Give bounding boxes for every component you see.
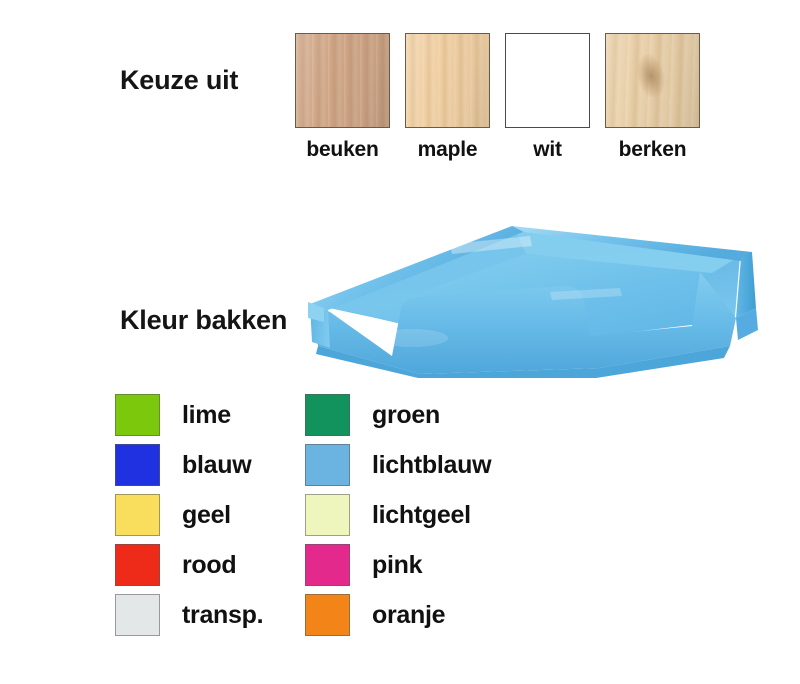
- wood-swatch-berken[interactable]: [605, 33, 700, 128]
- color-swatch-lichtblauw[interactable]: [305, 444, 350, 486]
- color-swatch-groen[interactable]: [305, 394, 350, 436]
- storage-tray-photo: [300, 196, 760, 378]
- color-option-groen[interactable]: groen: [305, 393, 440, 437]
- wood-section-title: Keuze uit: [120, 65, 238, 96]
- color-swatch-pink[interactable]: [305, 544, 350, 586]
- product-options-panel: Keuze uit beuken maple wit: [0, 0, 800, 684]
- wood-option-wit[interactable]: wit: [505, 33, 590, 162]
- wood-option-label: berken: [605, 138, 700, 162]
- wood-option-label: maple: [405, 138, 490, 162]
- color-option-lime[interactable]: lime: [115, 393, 231, 437]
- color-option-label: rood: [182, 553, 236, 578]
- color-option-label: transp.: [182, 603, 263, 628]
- wood-swatch-wit[interactable]: [505, 33, 590, 128]
- color-swatch-blauw[interactable]: [115, 444, 160, 486]
- color-option-geel[interactable]: geel: [115, 493, 231, 537]
- wood-sheen-overlay: [296, 34, 389, 127]
- color-swatch-rood[interactable]: [115, 544, 160, 586]
- wood-swatch-maple[interactable]: [405, 33, 490, 128]
- color-option-label: oranje: [372, 603, 445, 628]
- wood-option-beuken[interactable]: beuken: [295, 33, 390, 162]
- bin-section-title: Kleur bakken: [120, 305, 287, 336]
- tray-highlight-grip: [376, 329, 448, 347]
- color-option-pink[interactable]: pink: [305, 543, 422, 587]
- wood-sheen-overlay: [606, 34, 699, 127]
- color-option-label: lime: [182, 403, 231, 428]
- wood-option-maple[interactable]: maple: [405, 33, 490, 162]
- color-swatch-geel[interactable]: [115, 494, 160, 536]
- wood-option-label: beuken: [295, 138, 390, 162]
- color-option-lichtgeel[interactable]: lichtgeel: [305, 493, 471, 537]
- color-option-oranje[interactable]: oranje: [305, 593, 445, 637]
- color-option-transp[interactable]: transp.: [115, 593, 263, 637]
- color-option-label: lichtblauw: [372, 453, 491, 478]
- wood-swatch-beuken[interactable]: [295, 33, 390, 128]
- color-swatch-transp[interactable]: [115, 594, 160, 636]
- wood-sheen-overlay: [406, 34, 489, 127]
- color-option-lichtblauw[interactable]: lichtblauw: [305, 443, 491, 487]
- color-option-rood[interactable]: rood: [115, 543, 236, 587]
- color-option-blauw[interactable]: blauw: [115, 443, 251, 487]
- color-option-label: pink: [372, 553, 422, 578]
- color-option-label: geel: [182, 503, 231, 528]
- color-swatch-oranje[interactable]: [305, 594, 350, 636]
- wood-swatch-row: beuken maple wit berken: [295, 33, 715, 163]
- wood-option-berken[interactable]: berken: [605, 33, 700, 162]
- color-swatch-lime[interactable]: [115, 394, 160, 436]
- color-option-label: blauw: [182, 453, 251, 478]
- wood-option-label: wit: [505, 138, 590, 162]
- bin-color-legend: lime blauw geel rood transp. groen licht…: [115, 393, 675, 643]
- color-option-label: lichtgeel: [372, 503, 471, 528]
- color-swatch-lichtgeel[interactable]: [305, 494, 350, 536]
- color-option-label: groen: [372, 403, 440, 428]
